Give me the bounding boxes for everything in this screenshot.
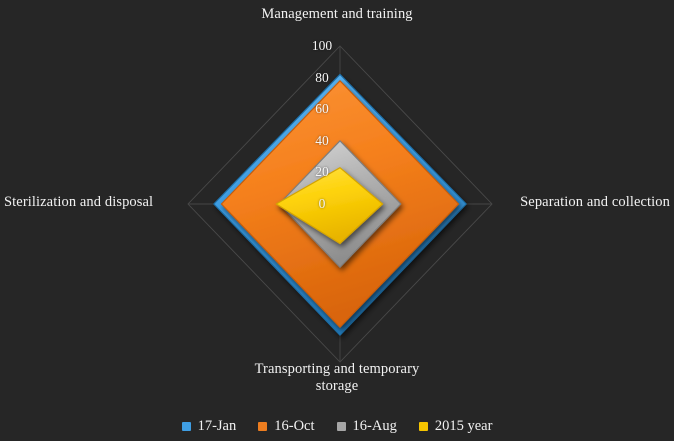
radial-tick-0: 0 [319,196,326,212]
legend-item-17-jan[interactable]: 17-Jan [182,418,237,435]
legend-item-16-oct[interactable]: 16-Oct [258,418,314,435]
axis-label-line-2: storage [316,378,359,394]
legend-label: 17-Jan [198,418,237,435]
legend-label: 16-Oct [274,418,314,435]
radial-tick-80: 80 [315,70,329,86]
legend-label: 16-Aug [353,418,397,435]
radial-tick-60: 60 [315,101,329,117]
chart-legend: 17-Jan16-Oct16-Aug2015 year [0,418,674,435]
axis-label-sterilization-and-disposal: Sterilization and disposal [4,194,153,211]
axis-label-management-and-training: Management and training [0,6,674,23]
legend-swatch-icon [337,422,346,431]
radial-tick-100: 100 [312,38,332,54]
legend-swatch-icon [258,422,267,431]
legend-item-2015-year[interactable]: 2015 year [419,418,493,435]
radar-chart: Management and training Separation and c… [0,0,674,441]
radial-tick-20: 20 [315,164,329,180]
radar-series-layer [214,74,466,335]
legend-item-16-aug[interactable]: 16-Aug [337,418,397,435]
axis-label-transporting-and-temporary-storage: Transporting and temporary storage [0,361,674,395]
legend-swatch-icon [182,422,191,431]
legend-label: 2015 year [435,418,493,435]
axis-label-separation-and-collection: Separation and collection [520,194,670,211]
radial-tick-40: 40 [315,133,329,149]
legend-swatch-icon [419,422,428,431]
axis-label-line-1: Transporting and temporary [255,361,420,377]
